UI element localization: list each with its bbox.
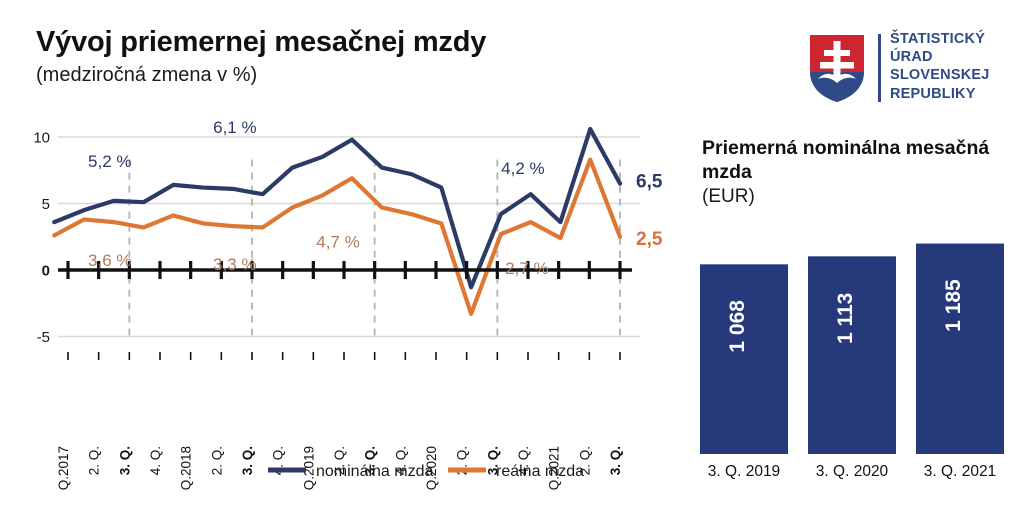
logo-line-3: SLOVENSKEJ: [890, 66, 990, 84]
legend: nominálna mzdareálna mzda: [268, 463, 584, 480]
value-annotation: 2,5 %: [636, 229, 664, 250]
value-annotation: 3,6 %: [88, 251, 131, 270]
value-annotation: 6,1 %: [213, 118, 256, 137]
value-annotation: 4,7 %: [316, 232, 359, 251]
bar: [808, 256, 896, 454]
page-subtitle: (medziročná zmena v %): [36, 64, 257, 87]
value-annotation: 2,7 %: [505, 259, 548, 278]
bar-panel-title: Priemerná nominálna mesačná mzda: [702, 136, 1002, 184]
line-chart: 1050-5 1. Q.20172. Q.3. Q.4. Q.1. Q.2018…: [0, 118, 664, 493]
logo-line-1: ŠTATISTICKÝ: [890, 30, 990, 48]
x-axis-tick-label: 4. Q.: [148, 446, 163, 475]
bar-category-label: 3. Q. 2021: [924, 463, 996, 480]
infographic-page: Vývoj priemernej mesačnej mzdy (medziroč…: [0, 0, 1024, 512]
y-axis-tick-label: 5: [42, 196, 50, 213]
value-annotation: 5,2 %: [88, 152, 131, 171]
bar-category-label: 3. Q. 2019: [708, 463, 780, 480]
slovak-coat-of-arms-icon: [806, 32, 868, 104]
value-annotation: 6,5 %: [636, 172, 664, 193]
bar-chart: 1 0681 1131 185 3. Q. 20193. Q. 20203. Q…: [680, 208, 1024, 492]
bar-value-label: 1 113: [834, 293, 857, 344]
y-axis-tick-label: 0: [42, 263, 50, 280]
x-axis-tick-label: 3. Q.: [608, 446, 623, 475]
x-axis-tick-label: 1. Q.2017: [56, 446, 71, 493]
bar-panel-units: (EUR): [702, 186, 755, 208]
bar-chart-panel: Priemerná nominálna mesačná mzda (EUR) 1…: [680, 136, 1024, 492]
x-axis-tick-label: 2. Q.: [87, 446, 102, 475]
x-axis-tick-label: 1. Q.2018: [179, 446, 194, 493]
logo-line-2: ÚRAD: [890, 48, 990, 66]
logo-text: ŠTATISTICKÝ ÚRAD SLOVENSKEJ REPUBLIKY: [890, 30, 990, 103]
bar-value-label: 1 068: [726, 300, 749, 353]
bar-category-labels: 3. Q. 20193. Q. 20203. Q. 2021: [708, 463, 996, 480]
page-title: Vývoj priemernej mesačnej mzdy: [36, 26, 486, 59]
x-axis-tick-label: 3. Q.: [117, 446, 132, 475]
y-axis-tick-label: -5: [37, 329, 50, 346]
y-axis-tick-label: 10: [33, 130, 50, 147]
x-axis-tick-label: 2. Q.: [209, 446, 224, 475]
legend-item: nominálna mzda: [268, 463, 434, 480]
bar: [700, 264, 788, 454]
bar: [916, 244, 1004, 454]
logo-line-4: REPUBLIKY: [890, 85, 990, 103]
bar-value-label: 1 185: [942, 279, 965, 332]
value-annotation: 4,2 %: [501, 159, 544, 178]
series-lines: [54, 129, 620, 314]
legend-label: nominálna mzda: [316, 463, 434, 480]
y-axis-labels: 1050-5: [33, 130, 50, 347]
x-axis-tick-label: 3. Q.: [240, 446, 255, 475]
value-annotation: 3,3 %: [213, 255, 256, 274]
bar-category-label: 3. Q. 2020: [816, 463, 889, 480]
logo-divider: [878, 34, 881, 102]
legend-label: reálna mzda: [496, 463, 584, 480]
statistical-office-logo: ŠTATISTICKÝ ÚRAD SLOVENSKEJ REPUBLIKY: [806, 30, 1016, 106]
